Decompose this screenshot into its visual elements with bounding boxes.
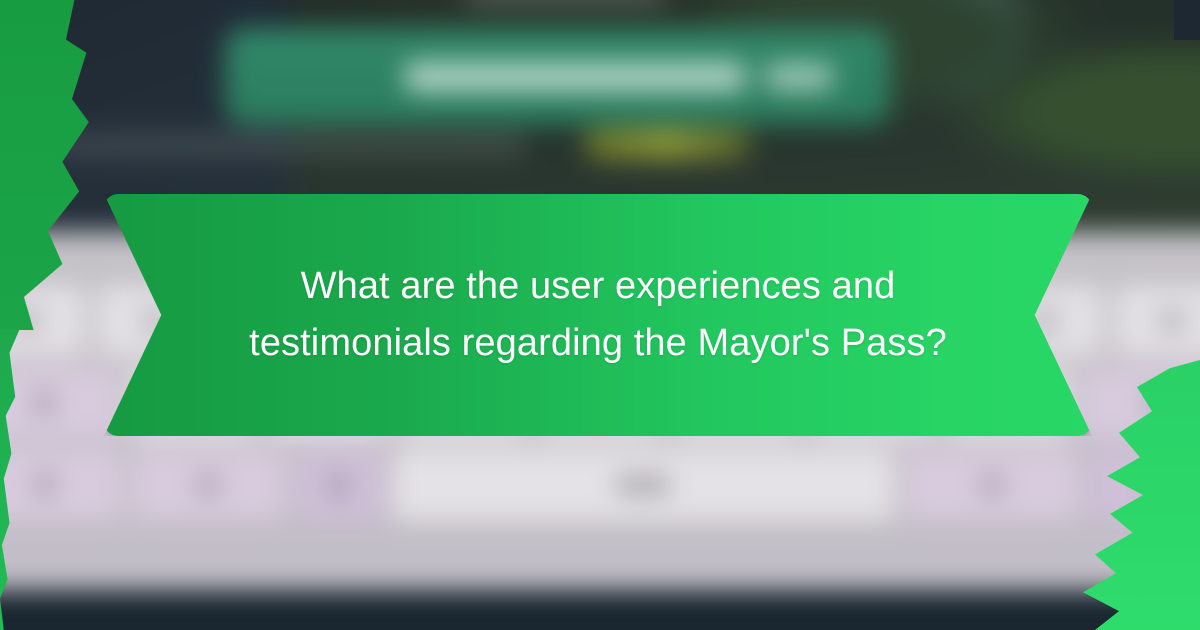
keyboard-key[interactable]	[0, 366, 120, 440]
app-header-title-ghost	[465, 0, 665, 4]
keyboard-key-shift[interactable]	[0, 448, 122, 522]
key-glyph-icon	[36, 393, 52, 413]
keyboard-row-bottom[interactable]	[0, 448, 1200, 522]
question-line-2: testimonials regarding the Mayor's Pass?	[218, 315, 978, 372]
app-button-label-ghost	[405, 62, 745, 92]
question-text: What are the user experiences and testim…	[218, 258, 978, 372]
top-right-dark-corner	[1174, 0, 1200, 40]
period-icon	[984, 475, 1000, 495]
keyboard-key-symbols[interactable]	[132, 448, 285, 522]
question-ribbon: What are the user experiences and testim…	[104, 194, 1092, 436]
comma-icon	[330, 475, 346, 495]
share-card: What are the user experiences and testim…	[0, 0, 1200, 630]
app-accent-chip-ghost	[585, 128, 750, 160]
app-primary-button-ghost[interactable]	[225, 28, 890, 125]
shift-icon	[37, 475, 53, 495]
space-label-icon	[616, 477, 670, 493]
app-secondary-row-ghost	[55, 132, 525, 158]
question-line-1: What are the user experiences and	[218, 258, 978, 315]
keyboard-key-period[interactable]	[904, 448, 1079, 522]
key-glyph-icon	[1164, 311, 1180, 331]
keyboard-key-comma[interactable]	[295, 448, 382, 522]
keyboard-key[interactable]	[1114, 284, 1200, 358]
keyboard-key-space[interactable]	[392, 448, 894, 522]
symbols-icon	[200, 475, 216, 495]
app-button-label-ghost-2	[765, 64, 833, 90]
